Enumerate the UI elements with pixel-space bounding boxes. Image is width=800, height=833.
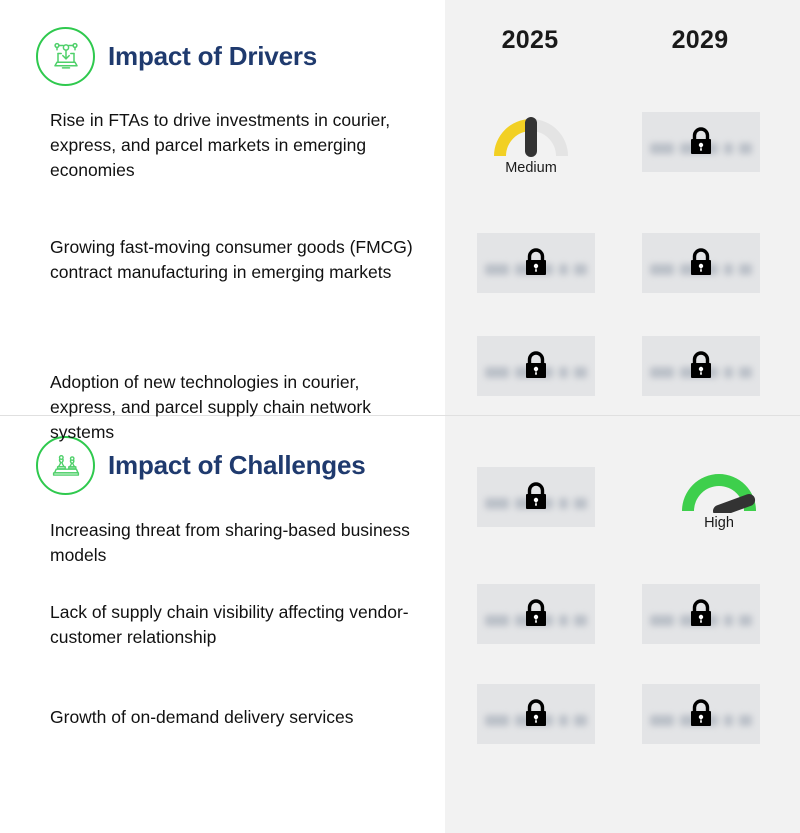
lock-icon — [521, 597, 551, 631]
lock-icon — [686, 125, 716, 159]
lock-icon — [686, 349, 716, 383]
section-title-challenges: Impact of Challenges — [108, 450, 366, 481]
value-cell-driver-1-2025[interactable]: Medium — [472, 112, 590, 172]
value-cell-challenge-2-2025[interactable] — [477, 584, 595, 644]
value-cell-challenge-3-2029[interactable] — [642, 684, 760, 744]
lock-icon — [521, 349, 551, 383]
statement-driver-3: Adoption of new technologies in courier,… — [50, 370, 430, 445]
lock-icon — [686, 246, 716, 280]
value-cell-challenge-2-2029[interactable] — [642, 584, 760, 644]
value-cell-driver-2-2025[interactable] — [477, 233, 595, 293]
gauge-label-medium: Medium — [505, 160, 557, 176]
section-title-drivers: Impact of Drivers — [108, 41, 317, 72]
value-cell-challenge-3-2025[interactable] — [477, 684, 595, 744]
impact-matrix-page: 2025 2029 Impact of Drivers — [0, 0, 800, 833]
value-cell-driver-3-2029[interactable] — [642, 336, 760, 396]
lock-icon — [521, 480, 551, 514]
statement-driver-1: Rise in FTAs to drive investments in cou… — [50, 108, 430, 183]
gauge-label-high: High — [704, 515, 734, 531]
statement-challenge-1: Increasing threat from sharing-based bus… — [50, 518, 430, 568]
statement-driver-2: Growing fast-moving consumer goods (FMCG… — [50, 235, 430, 285]
gauge-high — [676, 467, 762, 513]
section-header-drivers: Impact of Drivers — [36, 27, 317, 86]
lock-icon — [686, 697, 716, 731]
value-cell-challenge-1-2025[interactable] — [477, 467, 595, 527]
value-cell-challenge-1-2029[interactable]: High — [660, 467, 778, 527]
column-header-2025: 2025 — [470, 26, 590, 55]
gauge-medium — [488, 112, 574, 158]
column-header-2029: 2029 — [640, 26, 760, 55]
statement-challenge-2: Lack of supply chain visibility affectin… — [50, 600, 430, 650]
value-cell-driver-3-2025[interactable] — [477, 336, 595, 396]
lock-icon — [686, 597, 716, 631]
lock-icon — [521, 697, 551, 731]
statement-challenge-3: Growth of on-demand delivery services — [50, 705, 430, 730]
value-cell-driver-1-2029[interactable] — [642, 112, 760, 172]
value-cell-driver-2-2029[interactable] — [642, 233, 760, 293]
laptop-network-download-icon — [36, 27, 95, 86]
lock-icon — [521, 246, 551, 280]
